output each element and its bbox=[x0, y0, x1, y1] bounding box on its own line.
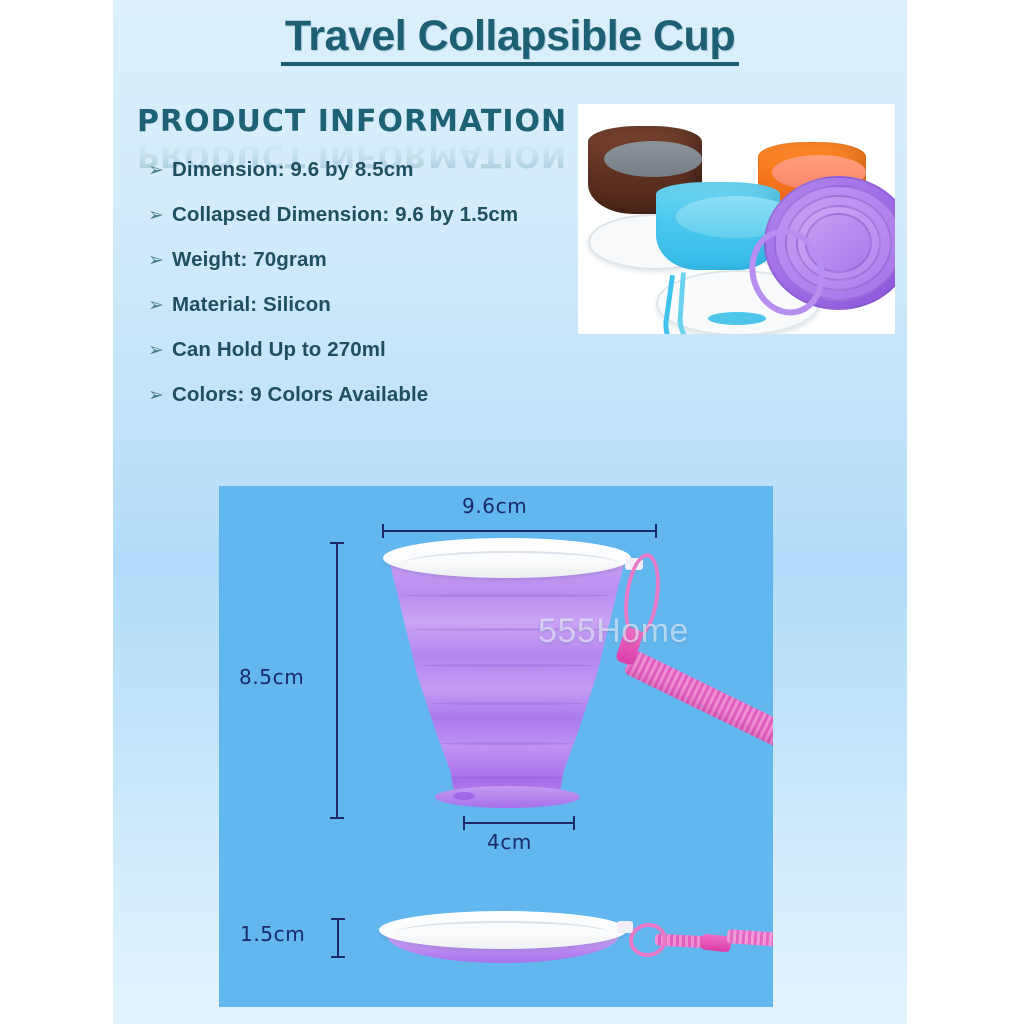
dimension-line-base-width bbox=[463, 822, 575, 824]
dimension-label-top-width: 9.6cm bbox=[462, 494, 527, 518]
cup-purple-collapsed bbox=[764, 176, 895, 321]
product-information-heading: PRODUCT INFORMATION bbox=[137, 104, 577, 139]
list-item-label: Collapsed Dimension: 9.6 by 1.5cm bbox=[172, 203, 518, 227]
cup-brown-lid-top bbox=[604, 141, 702, 177]
cup-expanded-base-hole bbox=[453, 792, 475, 800]
arrow-bullet-icon: ➢ bbox=[148, 206, 172, 225]
cup-collapsed-lid-tab bbox=[617, 921, 633, 933]
arrow-bullet-icon: ➢ bbox=[148, 251, 172, 270]
list-item: ➢ Collapsed Dimension: 9.6 by 1.5cm bbox=[148, 203, 568, 248]
product-photo bbox=[578, 104, 895, 334]
dimension-line-height bbox=[336, 542, 338, 819]
dimension-line-top-width bbox=[382, 530, 657, 532]
list-item-label: Colors: 9 Colors Available bbox=[172, 383, 428, 407]
cup-collapsed-lid-seam bbox=[395, 921, 609, 945]
dimension-label-collapsed-height: 1.5cm bbox=[240, 922, 305, 946]
list-item-label: Can Hold Up to 270ml bbox=[172, 338, 386, 362]
list-item-label: Material: Silicon bbox=[172, 293, 331, 317]
list-item: ➢ Colors: 9 Colors Available bbox=[148, 383, 568, 428]
cup-expanded-body bbox=[389, 560, 625, 800]
cup-ridge bbox=[449, 776, 565, 779]
list-item: ➢ Dimension: 9.6 by 8.5cm bbox=[148, 158, 568, 203]
cup-ridge bbox=[441, 742, 573, 745]
dimension-label-base-width: 4cm bbox=[487, 830, 532, 854]
list-item: ➢ Material: Silicon bbox=[148, 293, 568, 338]
product-info-page: Travel Collapsible Cup PRODUCT INFORMATI… bbox=[0, 0, 1024, 1024]
dimension-diagram: 9.6cm 8.5cm 555Home bbox=[219, 486, 773, 1007]
cup-blue-base bbox=[708, 312, 766, 325]
dimension-line-collapsed-height bbox=[337, 918, 339, 958]
cup-expanded-lid-seam bbox=[403, 551, 619, 577]
arrow-bullet-icon: ➢ bbox=[148, 161, 172, 180]
page-title: Travel Collapsible Cup bbox=[281, 14, 739, 66]
arrow-bullet-icon: ➢ bbox=[148, 341, 172, 360]
list-item-label: Dimension: 9.6 by 8.5cm bbox=[172, 158, 414, 182]
cup-ridge bbox=[403, 594, 611, 597]
list-item: ➢ Weight: 70gram bbox=[148, 248, 568, 293]
dimension-label-height: 8.5cm bbox=[239, 665, 304, 689]
cup-expanded-lid bbox=[383, 538, 631, 578]
arrow-bullet-icon: ➢ bbox=[148, 296, 172, 315]
product-information-heading-block: PRODUCT INFORMATION PRODUCT INFORMATION bbox=[137, 104, 577, 152]
collapsed-lanyard-tail bbox=[727, 929, 773, 947]
cup-ridge bbox=[431, 702, 583, 705]
arrow-bullet-icon: ➢ bbox=[148, 386, 172, 405]
product-information-list: ➢ Dimension: 9.6 by 8.5cm ➢ Collapsed Di… bbox=[148, 158, 568, 428]
cup-collapsed-lid bbox=[379, 911, 627, 949]
list-item: ➢ Can Hold Up to 270ml bbox=[148, 338, 568, 383]
page-title-block: Travel Collapsible Cup bbox=[113, 14, 907, 66]
list-item-label: Weight: 70gram bbox=[172, 248, 327, 272]
cup-collapsed-illustration bbox=[379, 911, 634, 971]
cup-ridge bbox=[421, 664, 593, 667]
cup-expanded-illustration bbox=[379, 538, 634, 820]
watermark: 555Home bbox=[538, 612, 689, 651]
lanyard-strap bbox=[623, 649, 773, 756]
